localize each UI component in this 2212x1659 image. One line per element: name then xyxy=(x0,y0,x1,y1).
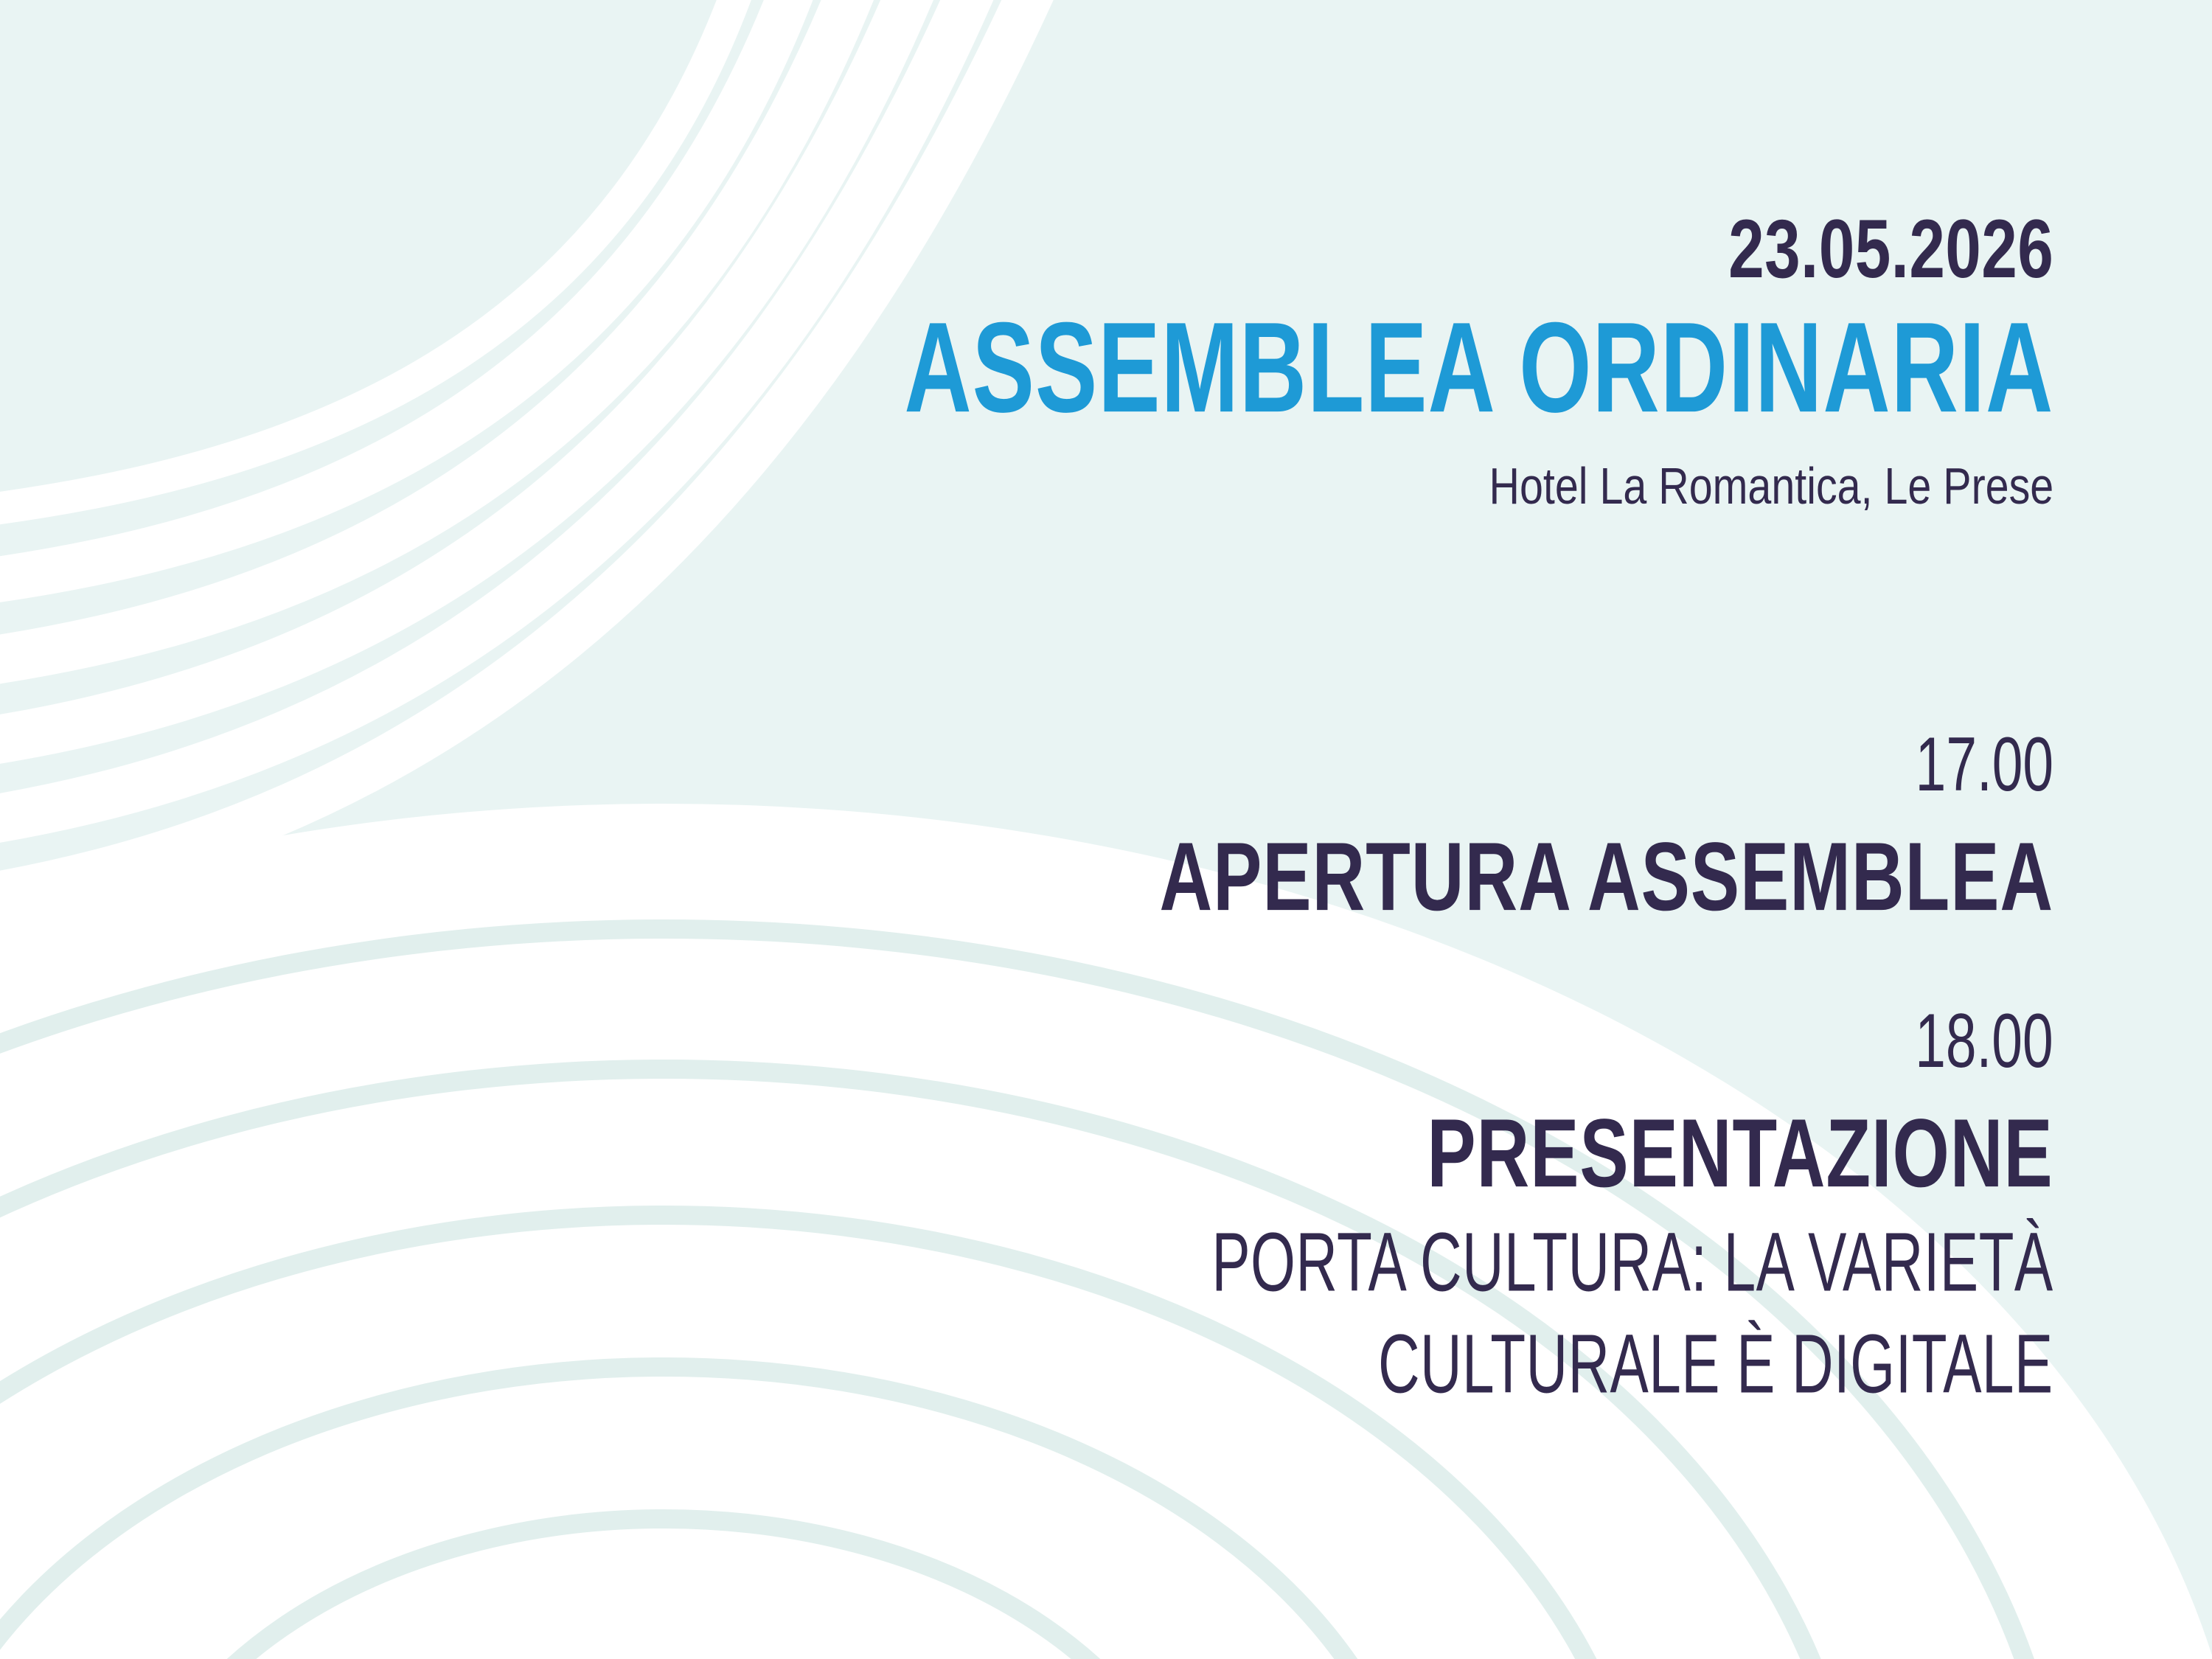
schedule-item-1-title: APERTURA ASSEMBLEA xyxy=(1159,828,2053,925)
event-poster: 23.05.2026 ASSEMBLEA ORDINARIA Hotel La … xyxy=(0,0,2212,1659)
page-title: ASSEMBLEA ORDINARIA xyxy=(904,303,2053,431)
schedule-item-2-time: 18.00 xyxy=(1296,1003,2053,1079)
poster-content: 23.05.2026 ASSEMBLEA ORDINARIA Hotel La … xyxy=(284,0,2053,1659)
schedule-item-2: 18.00 PRESENTAZIONE PORTA CULTURA: LA VA… xyxy=(1001,1003,2053,1399)
schedule-item-2-title: PRESENTAZIONE xyxy=(1086,1105,2053,1202)
schedule-item-1: 17.00 APERTURA ASSEMBLEA xyxy=(1082,726,2053,917)
schedule-item-1-time: 17.00 xyxy=(1354,726,2053,803)
event-venue: Hotel La Romantica, Le Prese xyxy=(1040,460,2053,512)
event-date: 23.05.2026 xyxy=(1090,208,2053,291)
schedule-item-2-subtitle-line-2: CULTURALE È DIGITALE xyxy=(1212,1321,2053,1405)
header-block: 23.05.2026 ASSEMBLEA ORDINARIA Hotel La … xyxy=(818,208,2053,512)
schedule-item-2-subtitle-line-1: PORTA CULTURA: LA VARIETÀ xyxy=(1212,1220,2053,1304)
